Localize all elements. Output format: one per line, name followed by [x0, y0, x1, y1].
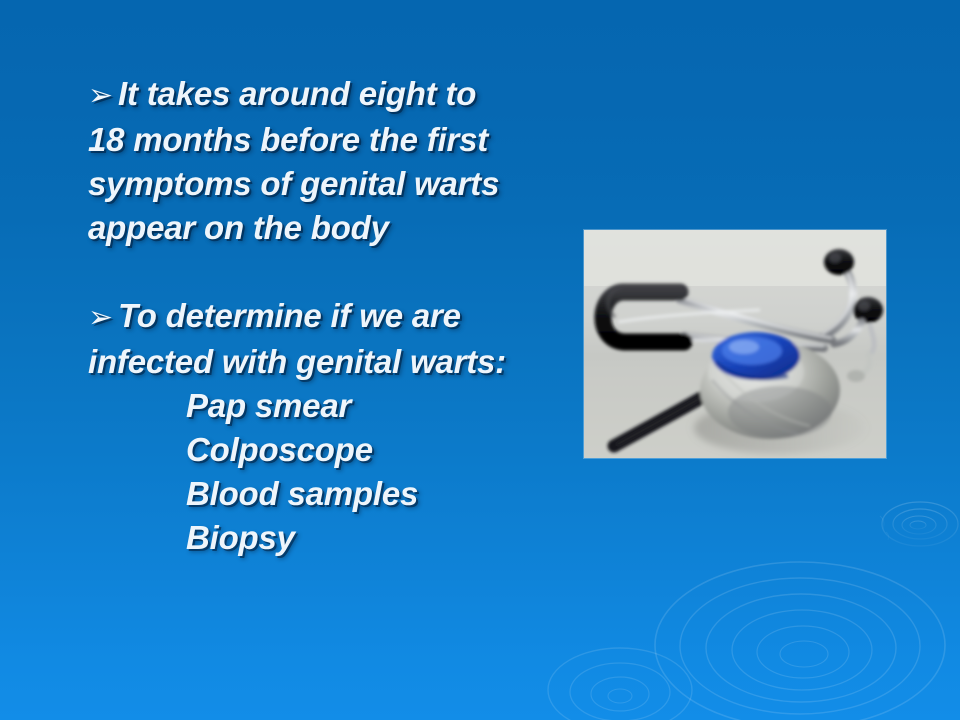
- slide-body-text: ➢It takes around eight to 18 months befo…: [88, 72, 568, 560]
- bullet-arrow-icon: ➢: [88, 296, 118, 340]
- bullet-arrow-icon: ➢: [88, 74, 118, 118]
- ear-tip-right: [824, 249, 854, 275]
- stethoscope-illustration: [584, 230, 886, 458]
- bullet-line-continuation: symptoms of genital warts: [88, 162, 568, 206]
- bullet-line-continuation: infected with genital warts:: [88, 340, 568, 384]
- bullet-text: It takes around eight to: [118, 75, 476, 112]
- sub-item: Colposcope: [88, 428, 568, 472]
- ripple-small-right: [880, 502, 958, 546]
- sub-item: Biopsy: [88, 516, 568, 560]
- bullet-line: ➢To determine if we are: [88, 294, 568, 340]
- bullet-line: ➢It takes around eight to: [88, 72, 568, 118]
- stethoscope-photo: [584, 230, 886, 458]
- blank-line-spacer: [88, 250, 568, 294]
- ear-tip-right-second: [853, 297, 883, 323]
- sub-item: Blood samples: [88, 472, 568, 516]
- bullet-line-continuation: appear on the body: [88, 206, 568, 250]
- ripple-edge-left: [548, 648, 692, 720]
- bullet-line-continuation: 18 months before the first: [88, 118, 568, 162]
- presentation-slide: ➢It takes around eight to 18 months befo…: [0, 0, 960, 720]
- bullet-text: To determine if we are: [118, 297, 461, 334]
- ripple-large-center: [655, 562, 945, 720]
- sub-item: Pap smear: [88, 384, 568, 428]
